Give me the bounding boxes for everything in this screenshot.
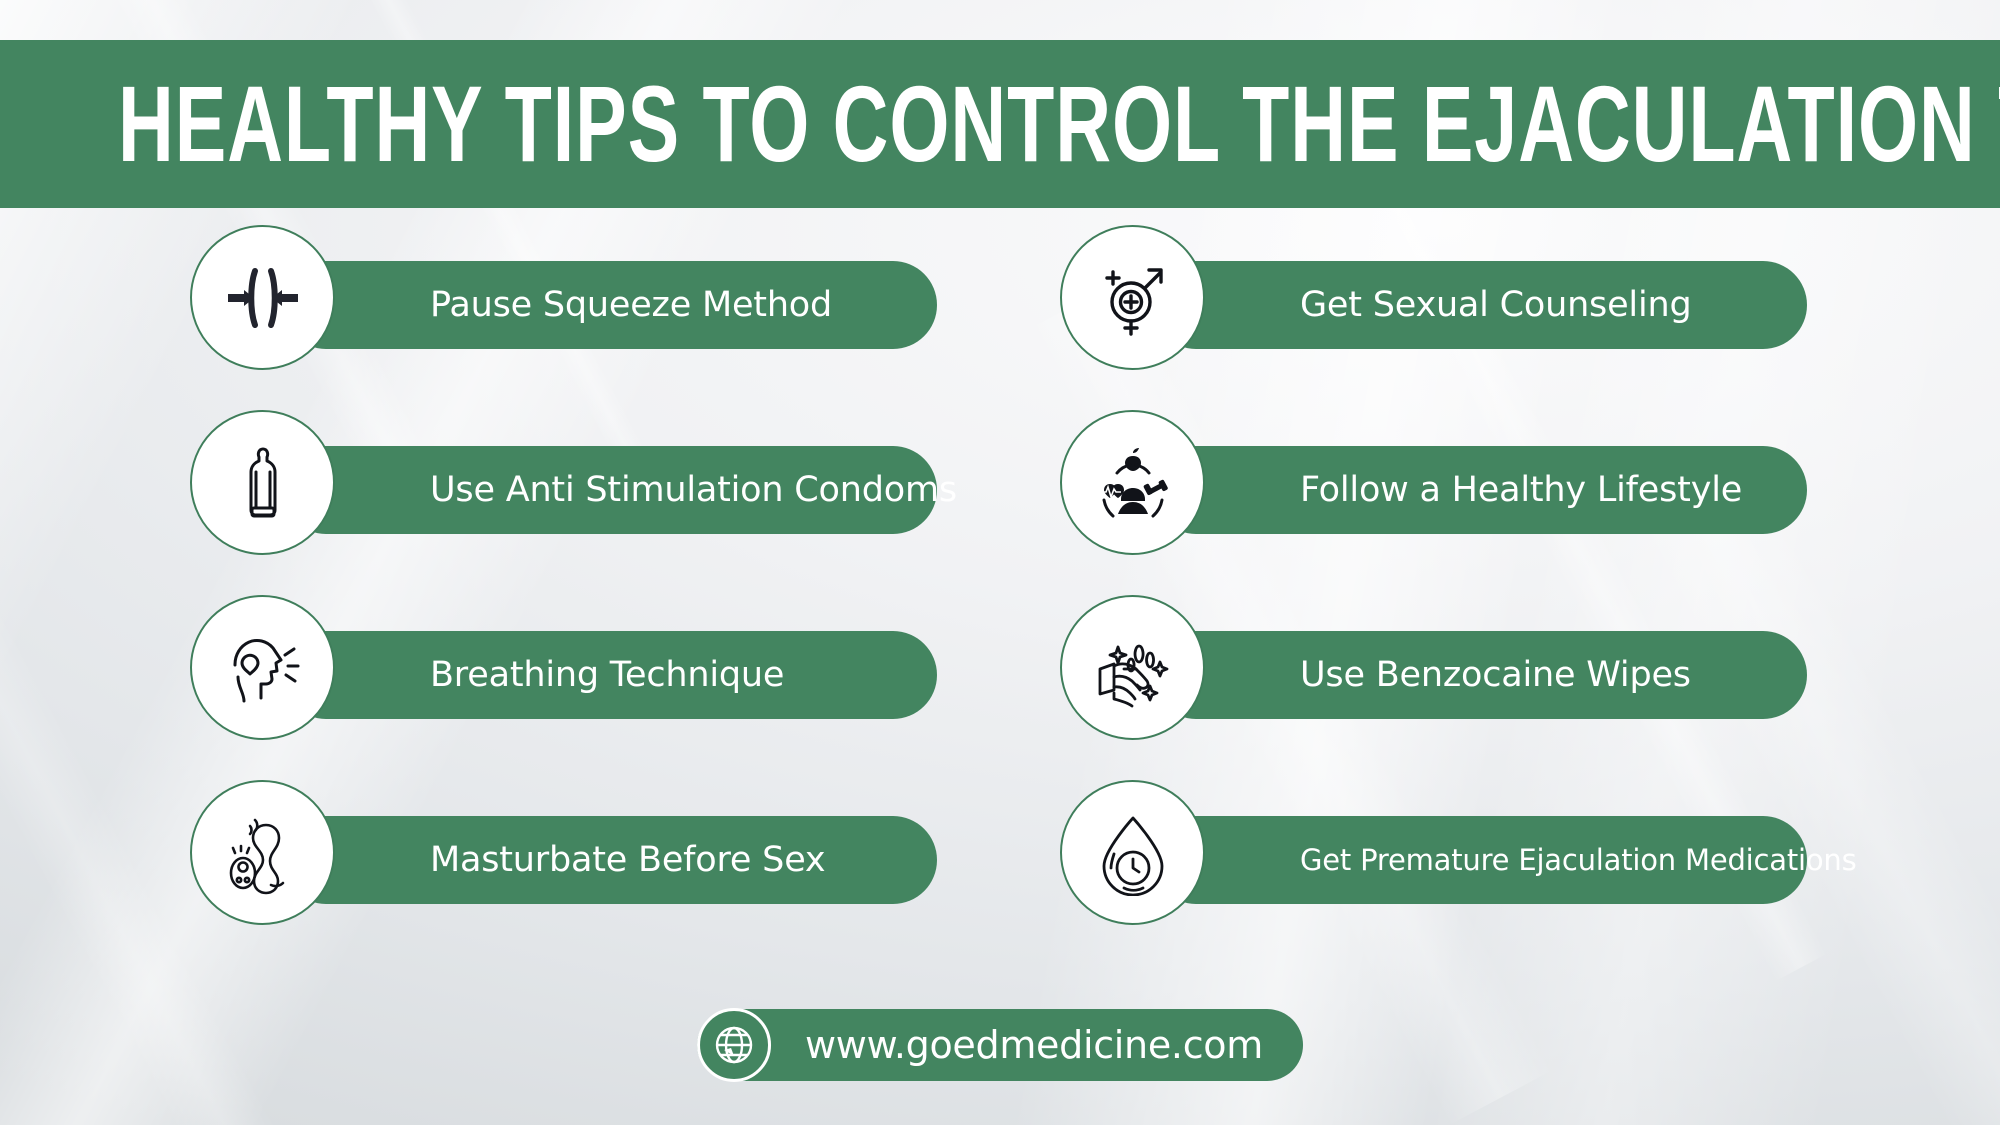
hand-wipe-sparkle-icon <box>1060 595 1205 740</box>
website-pill[interactable]: www.goedmedicine.com <box>697 1009 1303 1081</box>
tip-label: Breathing Technique <box>430 655 784 695</box>
gender-symbols-icon <box>1060 225 1205 370</box>
tip-label: Use Benzocaine Wipes <box>1300 655 1691 695</box>
tip-pill[interactable]: Use Anti Stimulation Condoms <box>282 446 937 534</box>
tip-pill[interactable]: Masturbate Before Sex <box>282 816 937 904</box>
breathing-head-icon <box>190 595 335 740</box>
tip-pill[interactable]: Use Benzocaine Wipes <box>1152 631 1807 719</box>
condom-icon <box>190 410 335 555</box>
tip-label: Masturbate Before Sex <box>430 840 825 880</box>
tip-label: Get Sexual Counseling <box>1300 285 1691 325</box>
squeeze-arrows-icon <box>190 225 335 370</box>
page-title: HEALTHY TIPS TO CONTROL THE EJACULATION … <box>118 70 2000 178</box>
tip-label: Pause Squeeze Method <box>430 285 832 325</box>
tip-pill[interactable]: Pause Squeeze Method <box>282 261 937 349</box>
massager-device-icon <box>190 780 335 925</box>
tip-pill[interactable]: Breathing Technique <box>282 631 937 719</box>
website-url: www.goedmedicine.com <box>805 1023 1263 1067</box>
droplet-clock-icon <box>1060 780 1205 925</box>
tip-label: Use Anti Stimulation Condoms <box>430 470 957 510</box>
tip-label: Get Premature Ejaculation Medications <box>1300 843 1857 877</box>
tip-label: Follow a Healthy Lifestyle <box>1300 470 1742 510</box>
tip-pill[interactable]: Follow a Healthy Lifestyle <box>1152 446 1807 534</box>
footer[interactable]: www.goedmedicine.com <box>697 1008 1303 1082</box>
header-bar: HEALTHY TIPS TO CONTROL THE EJACULATION … <box>0 40 2000 208</box>
tip-pill[interactable]: Get Premature Ejaculation Medications <box>1152 816 1807 904</box>
background-sheen-5 <box>1618 437 2000 1125</box>
healthy-lifestyle-icon <box>1060 410 1205 555</box>
infographic-canvas: HEALTHY TIPS TO CONTROL THE EJACULATION … <box>0 0 2000 1125</box>
tip-pill[interactable]: Get Sexual Counseling <box>1152 261 1807 349</box>
globe-icon <box>697 1008 771 1082</box>
